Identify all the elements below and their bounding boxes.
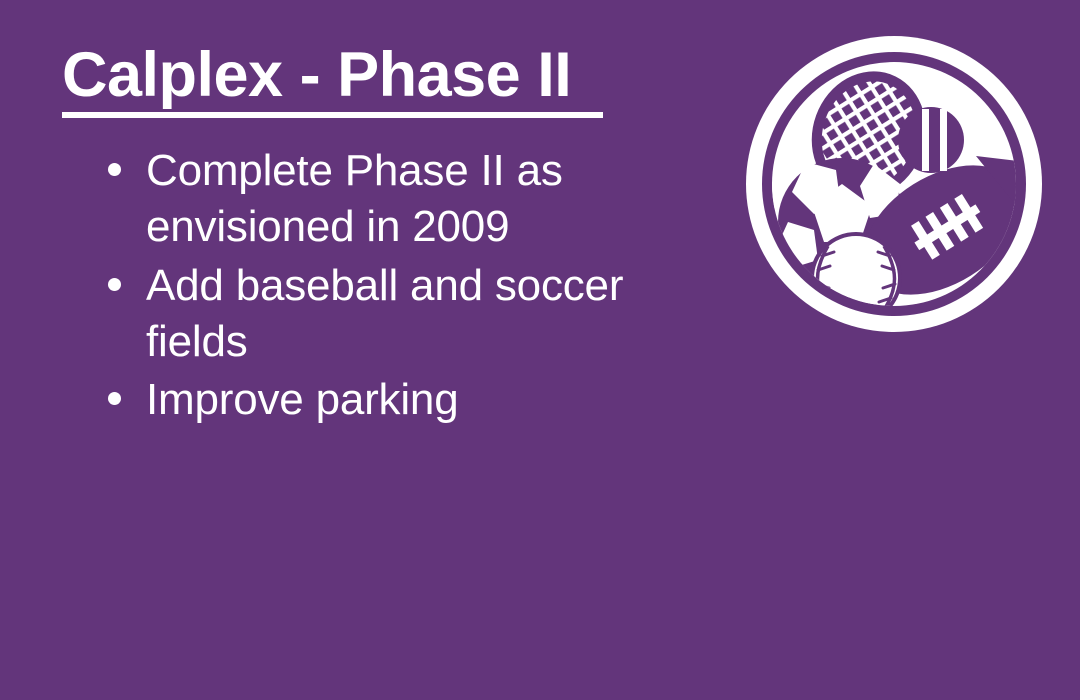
list-item-label: Improve parking (146, 375, 458, 424)
bullet-dot-icon (108, 278, 121, 291)
list-item: Add baseball and soccer fields (100, 258, 660, 371)
list-item: Improve parking (100, 372, 660, 428)
list-item-label: Complete Phase II as envisioned in 2009 (146, 146, 563, 251)
presentation-slide: Calplex - Phase II Complete Phase II as … (0, 0, 1080, 700)
list-item: Complete Phase II as envisioned in 2009 (100, 143, 660, 256)
list-item-label: Add baseball and soccer fields (146, 261, 623, 366)
title-underline (62, 112, 603, 118)
bullet-dot-icon (108, 163, 121, 176)
bullet-list: Complete Phase II as envisioned in 2009 … (100, 143, 660, 431)
sports-equipment-badge-icon (744, 34, 1044, 334)
bullet-dot-icon (108, 392, 121, 405)
page-title: Calplex - Phase II (62, 44, 571, 107)
